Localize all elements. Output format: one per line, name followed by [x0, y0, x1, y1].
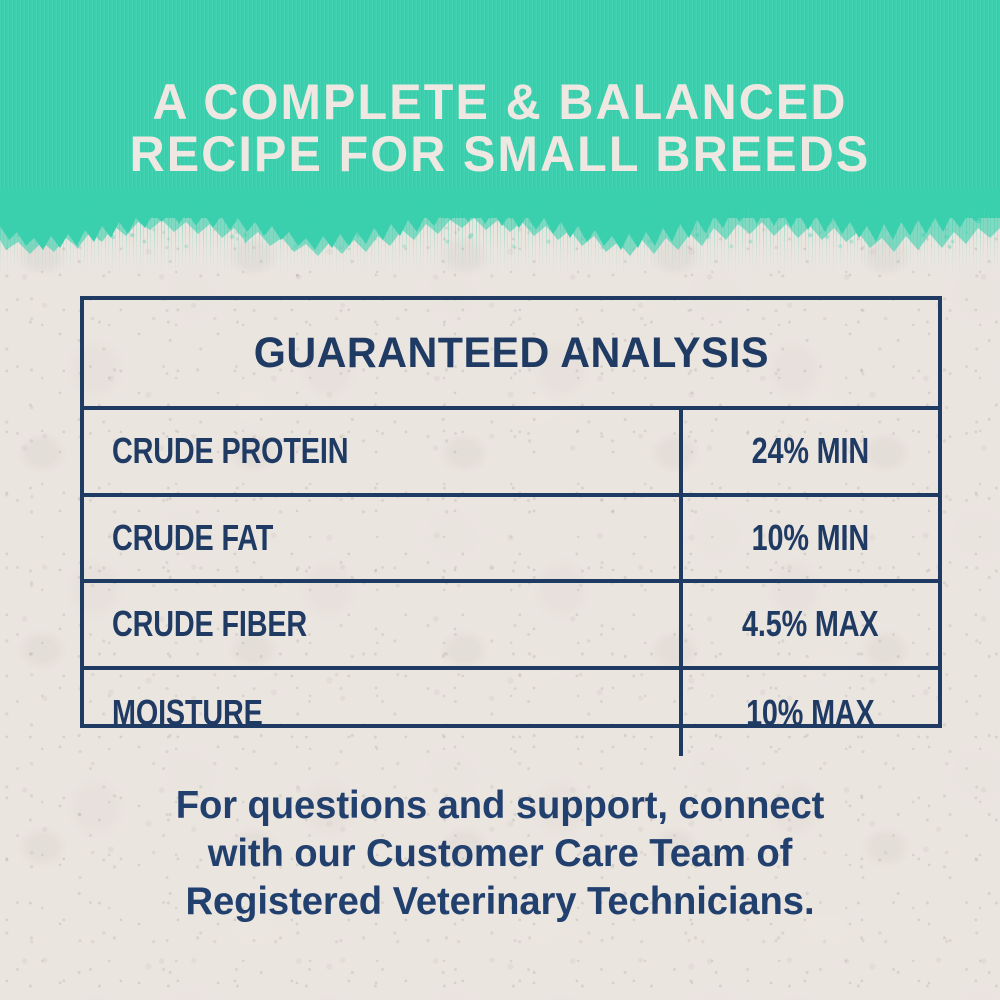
table-row: CRUDE FIBER 4.5% MAX [84, 583, 938, 670]
table-row: MOISTURE 10% MAX [84, 670, 938, 757]
teal-band-rough-edge [0, 188, 1000, 284]
table-cell-nutrient: MOISTURE [84, 670, 683, 757]
headline-line-2: RECIPE FOR SMALL BREEDS [15, 128, 985, 180]
packaging-info-panel: A COMPLETE & BALANCED RECIPE FOR SMALL B… [0, 0, 1000, 1000]
table-title: GUARANTEED ANALYSIS [253, 329, 768, 378]
nutrient-label: CRUDE FIBER [112, 603, 307, 645]
table-cell-amount: 10% MAX [683, 670, 938, 757]
nutrient-value: 10% MAX [746, 692, 875, 734]
support-note-line-1: For questions and support, connect [69, 782, 931, 830]
table-title-row: GUARANTEED ANALYSIS [84, 300, 938, 410]
support-note-line-3: Registered Veterinary Technicians. [69, 878, 931, 926]
customer-support-note: For questions and support, connect with … [69, 782, 931, 926]
nutrient-label: CRUDE FAT [112, 517, 273, 559]
page-title: A COMPLETE & BALANCED RECIPE FOR SMALL B… [15, 76, 985, 180]
nutrient-label: MOISTURE [112, 692, 263, 734]
table-cell-nutrient: CRUDE FIBER [84, 583, 683, 666]
nutrient-label: CRUDE PROTEIN [112, 430, 348, 472]
table-cell-nutrient: CRUDE FAT [84, 497, 683, 580]
nutrient-value: 10% MIN [752, 517, 869, 559]
table-cell-amount: 10% MIN [683, 497, 938, 580]
headline-line-1: A COMPLETE & BALANCED [15, 76, 985, 128]
table-cell-nutrient: CRUDE PROTEIN [84, 410, 683, 493]
support-note-line-2: with our Customer Care Team of [69, 830, 931, 878]
nutrient-value: 4.5% MAX [742, 603, 878, 645]
table-row: CRUDE FAT 10% MIN [84, 497, 938, 584]
table-cell-amount: 24% MIN [683, 410, 938, 493]
nutrient-value: 24% MIN [752, 430, 869, 472]
rough-edge-shape [0, 188, 1000, 284]
table-row: CRUDE PROTEIN 24% MIN [84, 410, 938, 497]
guaranteed-analysis-table: GUARANTEED ANALYSIS CRUDE PROTEIN 24% MI… [80, 296, 942, 728]
table-cell-amount: 4.5% MAX [683, 583, 938, 666]
